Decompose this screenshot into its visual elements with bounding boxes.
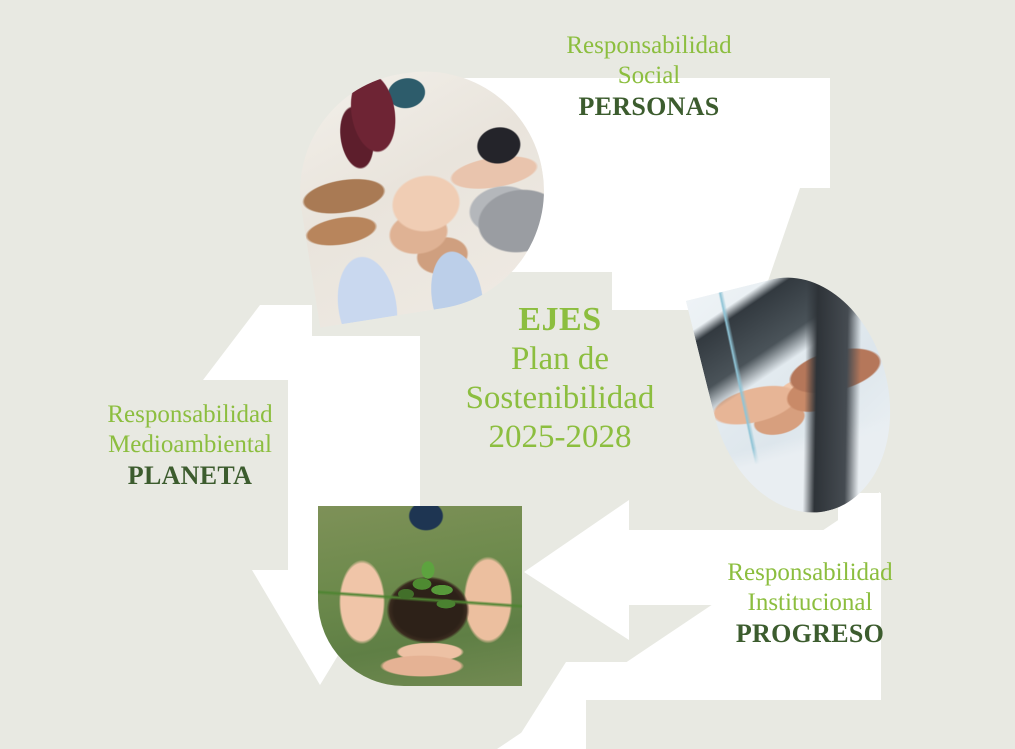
axis-planeta-keyword: PLANETA (10, 460, 370, 492)
center-title-line1: Plan de (400, 340, 720, 379)
axis-planeta-title-line2: Medioambiental (10, 430, 370, 460)
axis-personas-keyword: PERSONAS (449, 91, 849, 123)
axis-personas-title-line1: Responsabilidad (449, 31, 849, 61)
axis-progreso-title-line2: Institucional (610, 588, 1010, 618)
axis-label-planeta: Responsabilidad Medioambiental PLANETA (10, 400, 370, 492)
axis-planeta-title-line1: Responsabilidad (10, 400, 370, 430)
axis-label-progreso: Responsabilidad Institucional PROGRESO (610, 558, 1010, 650)
axis-progreso-title-line1: Responsabilidad (610, 558, 1010, 588)
center-title-line3: 2025-2028 (400, 418, 720, 457)
center-eyebrow: EJES (400, 300, 720, 340)
sustainability-plan-infographic: Responsabilidad Social PERSONAS Responsa… (0, 0, 1015, 749)
center-title-block: EJES Plan de Sostenibilidad 2025-2028 (400, 300, 720, 457)
axis-progreso-keyword: PROGRESO (610, 618, 1010, 650)
axis-label-personas: Responsabilidad Social PERSONAS (449, 31, 849, 123)
axis-personas-title-line2: Social (449, 61, 849, 91)
hands-holding-soil-seedling-photo (318, 506, 522, 686)
center-title-line2: Sostenibilidad (400, 379, 720, 418)
